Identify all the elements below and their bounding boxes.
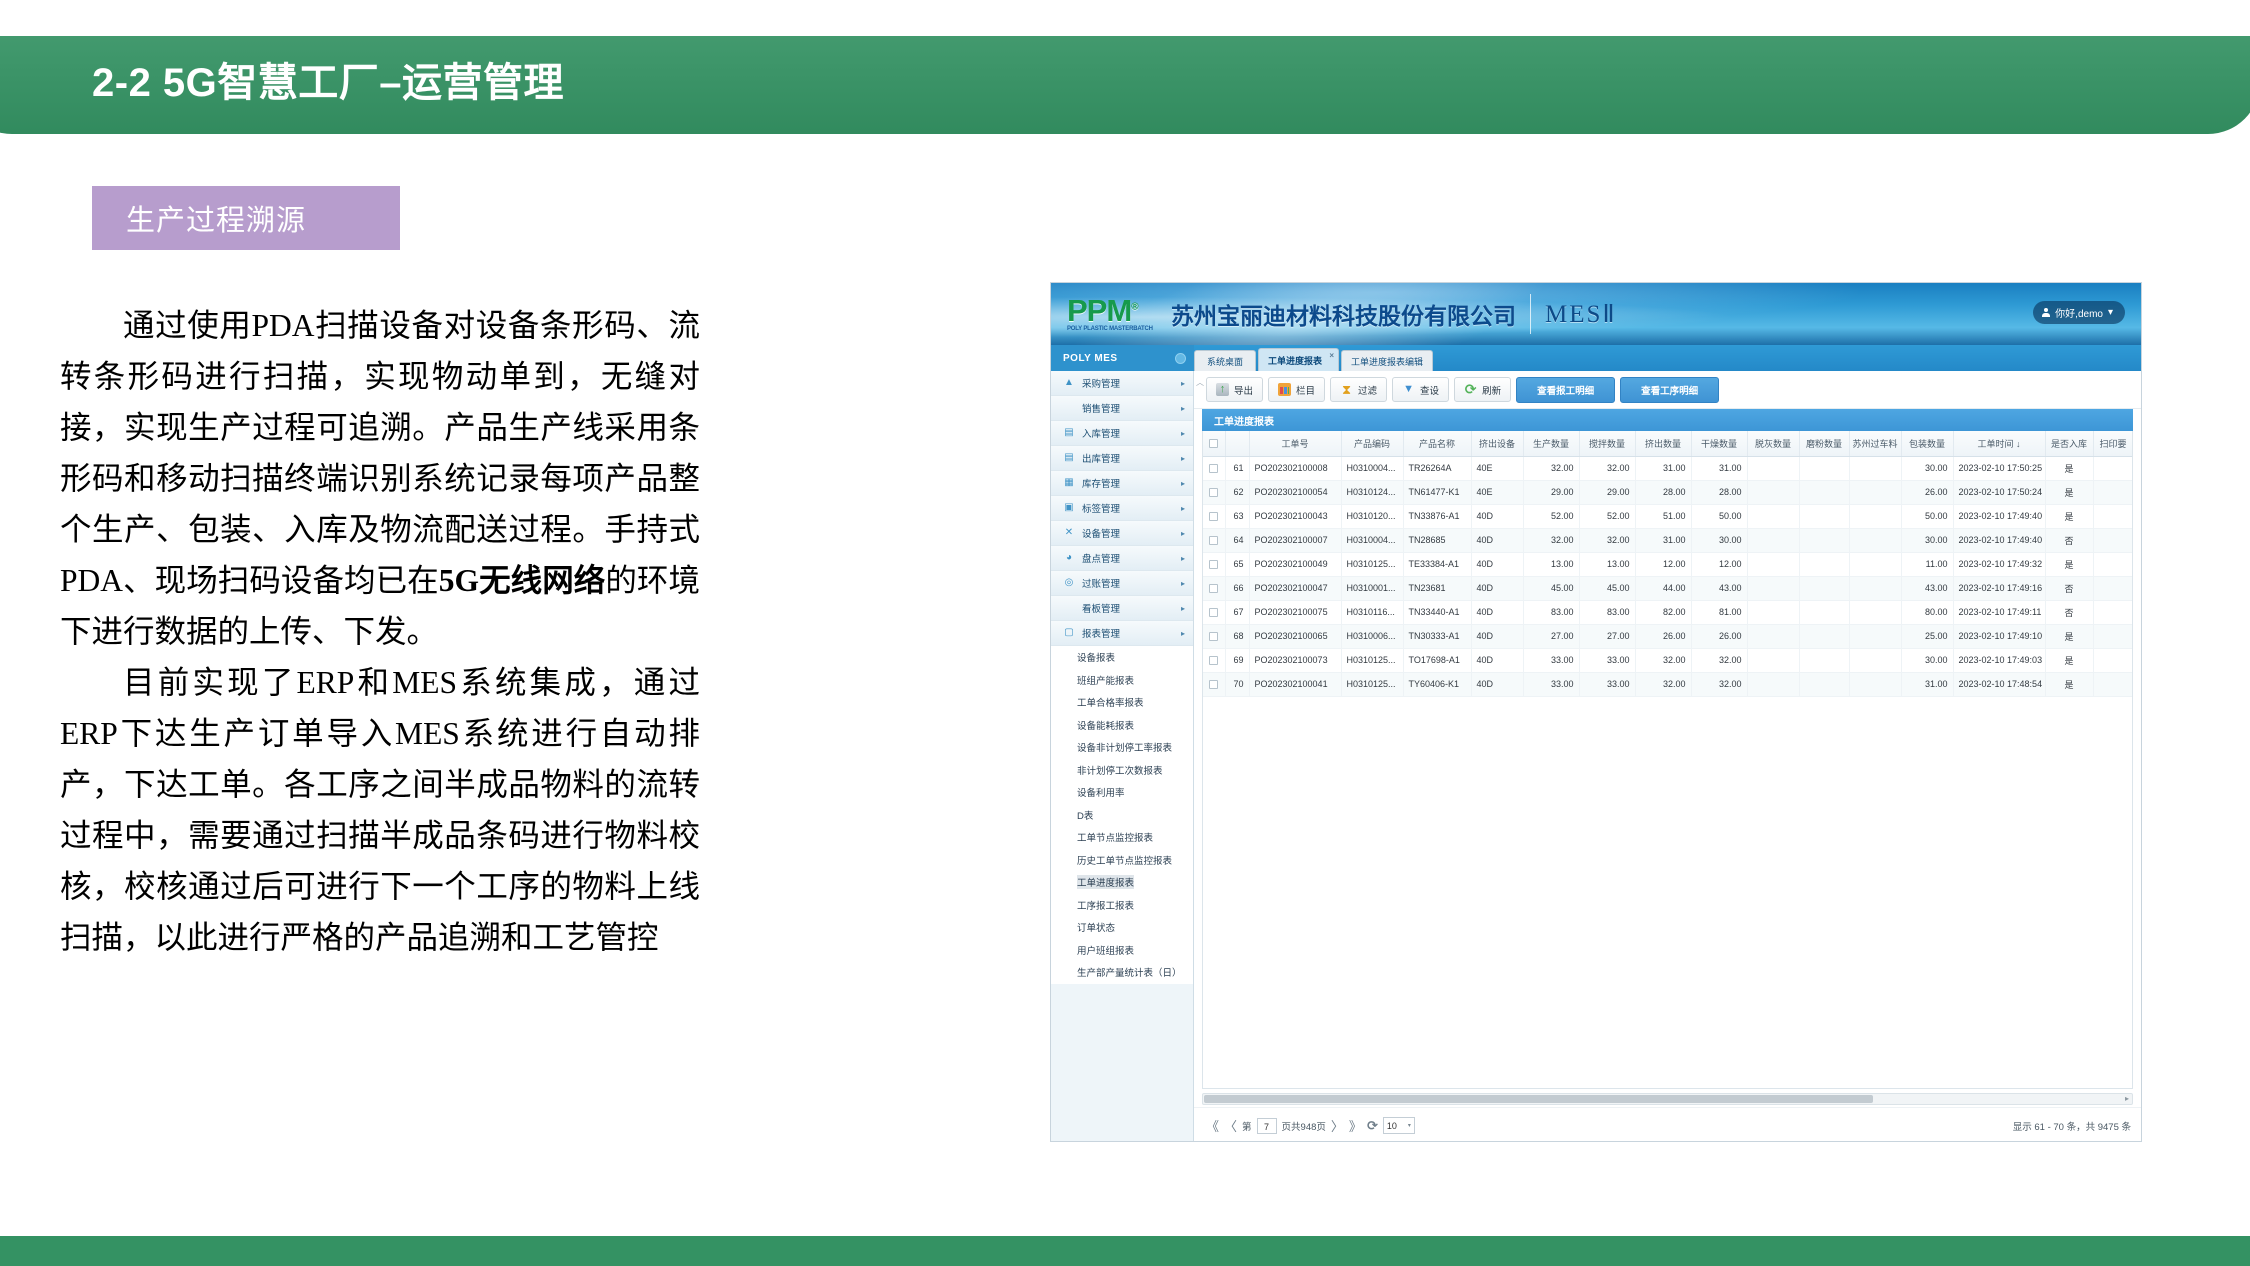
refresh-icon[interactable]: ⟳ bbox=[1367, 1118, 1378, 1134]
user-icon bbox=[2042, 308, 2050, 317]
cell-equipment: 40D bbox=[1471, 624, 1523, 648]
section-chip-label: 生产过程溯源 bbox=[92, 197, 306, 239]
cell-deashing-qty bbox=[1747, 528, 1799, 552]
checkbox-icon[interactable] bbox=[1209, 680, 1218, 689]
column-header-index[interactable] bbox=[1225, 431, 1249, 456]
cell-milling-qty bbox=[1799, 624, 1849, 648]
cell-product-name: TN61477-K1 bbox=[1403, 480, 1471, 504]
cell-drying-qty: 28.00 bbox=[1691, 480, 1747, 504]
submenu-item-unplanned-downtime-count-report[interactable]: 非计划停工次数报表 bbox=[1051, 759, 1193, 782]
submenu-item-equipment-energy-report[interactable]: 设备能耗报表 bbox=[1051, 714, 1193, 737]
table-row[interactable]: 70 PO202302100041 H0310125... TY60406-K1… bbox=[1203, 672, 2133, 696]
submenu-item-team-capacity-report[interactable]: 班组产能报表 bbox=[1051, 669, 1193, 692]
cell-packing-qty: 11.00 bbox=[1901, 552, 1953, 576]
table-row[interactable]: 61 PO202302100008 H0310004... TR26264A 4… bbox=[1203, 456, 2133, 480]
cell-product-name: TY60406-K1 bbox=[1403, 672, 1471, 696]
horizontal-scrollbar[interactable]: ◂ ▸ bbox=[1202, 1093, 2133, 1105]
table-header-row: 工单号 产品编码 产品名称 挤出设备 生产数量 搅拌数量 挤出数量 干燥数量 脱… bbox=[1203, 431, 2133, 456]
first-page-icon[interactable]: 《 bbox=[1206, 1116, 1219, 1135]
user-menu-label: 你好,demo bbox=[2055, 305, 2103, 320]
column-header-extrusion-equipment[interactable]: 挤出设备 bbox=[1471, 431, 1523, 456]
sidebar-item-outbound[interactable]: ▤ 出库管理 ▸ bbox=[1051, 446, 1193, 471]
refresh-button-label: 刷新 bbox=[1482, 383, 1501, 397]
cell-packing-qty: 30.00 bbox=[1901, 528, 1953, 552]
cell-in-stock: 否 bbox=[2045, 576, 2093, 600]
cell-milling-qty bbox=[1799, 504, 1849, 528]
app-body: ▲ 采购管理 ▸ • 销售管理 ▸ ▤ 入库管理 ▸ ▤ 出库管理 ▸ ▦ 库存 bbox=[1051, 371, 2141, 1142]
filter-button[interactable]: 过滤 bbox=[1330, 377, 1387, 402]
export-button[interactable]: 导出 bbox=[1206, 377, 1263, 402]
page-label-prefix: 第 bbox=[1242, 1119, 1252, 1133]
cell-index: 62 bbox=[1225, 480, 1249, 504]
cell-product-name: TN28685 bbox=[1403, 528, 1471, 552]
cell-packing-qty: 31.00 bbox=[1901, 672, 1953, 696]
cell-print-scan bbox=[2093, 576, 2133, 600]
cell-product-code: H0310125... bbox=[1341, 672, 1403, 696]
cell-deashing-qty bbox=[1747, 624, 1799, 648]
cell-packing-qty: 26.00 bbox=[1901, 480, 1953, 504]
chevron-right-icon: ▸ bbox=[1181, 604, 1193, 613]
cell-packing-qty: 43.00 bbox=[1901, 576, 1953, 600]
app-header: PPM® POLY PLASTIC MASTERBATCH 苏州宝丽迪材料科技股… bbox=[1051, 283, 2141, 345]
view-reporting-detail-label: 查看报工明细 bbox=[1537, 383, 1594, 397]
submenu-item-label: 设备报表 bbox=[1077, 650, 1115, 664]
cell-drying-qty: 32.00 bbox=[1691, 648, 1747, 672]
cell-equipment: 40D bbox=[1471, 648, 1523, 672]
sidebar-item-label: 过账管理 bbox=[1082, 576, 1181, 590]
checkbox-icon[interactable] bbox=[1209, 608, 1218, 617]
chevron-right-icon: ▸ bbox=[1181, 554, 1193, 563]
table-row[interactable]: 66 PO202302100047 H0310001... TN23681 40… bbox=[1203, 576, 2133, 600]
cell-workorder-no: PO202302100073 bbox=[1249, 648, 1341, 672]
checkbox-icon[interactable] bbox=[1209, 512, 1218, 521]
submenu-item-unplanned-downtime-rate-report[interactable]: 设备非计划停工率报表 bbox=[1051, 736, 1193, 759]
cell-suzhou-transfer bbox=[1849, 456, 1901, 480]
refresh-icon bbox=[1464, 383, 1477, 396]
column-header-drying-qty[interactable]: 干燥数量 bbox=[1691, 431, 1747, 456]
cell-equipment: 40D bbox=[1471, 504, 1523, 528]
cell-in-stock: 是 bbox=[2045, 624, 2093, 648]
chevron-right-icon: ▸ bbox=[1181, 479, 1193, 488]
cell-production-qty: 52.00 bbox=[1523, 504, 1579, 528]
cell-index: 67 bbox=[1225, 600, 1249, 624]
cell-product-code: H0310006... bbox=[1341, 624, 1403, 648]
column-header-mixing-qty[interactable]: 搅拌数量 bbox=[1579, 431, 1635, 456]
filter-button-label: 过滤 bbox=[1358, 383, 1377, 397]
cell-production-qty: 32.00 bbox=[1523, 528, 1579, 552]
cell-in-stock: 是 bbox=[2045, 504, 2093, 528]
column-header-milling-qty[interactable]: 磨粉数量 bbox=[1799, 431, 1849, 456]
column-header-extrusion-qty[interactable]: 挤出数量 bbox=[1635, 431, 1691, 456]
export-button-label: 导出 bbox=[1234, 383, 1253, 397]
cell-production-qty: 32.00 bbox=[1523, 456, 1579, 480]
grid-icon: ▦ bbox=[1063, 477, 1075, 489]
cell-product-name: TN33876-A1 bbox=[1403, 504, 1471, 528]
submenu-item-history-workorder-node-monitor-report[interactable]: 历史工单节点监控报表 bbox=[1051, 849, 1193, 872]
table-body: 61 PO202302100008 H0310004... TR26264A 4… bbox=[1203, 456, 2133, 696]
cell-suzhou-transfer bbox=[1849, 480, 1901, 504]
prev-page-icon[interactable]: 〈 bbox=[1224, 1116, 1237, 1135]
pagination-summary: 显示 61 - 70 条，共 9475 条 bbox=[2013, 1119, 2131, 1133]
column-header-product-code[interactable]: 产品编码 bbox=[1341, 431, 1403, 456]
view-reporting-detail-button[interactable]: 查看报工明细 bbox=[1516, 377, 1615, 403]
cell-product-code: H0310124... bbox=[1341, 480, 1403, 504]
sidebar-item-inbound[interactable]: ▤ 入库管理 ▸ bbox=[1051, 421, 1193, 446]
tab-workorder-progress-report-edit[interactable]: 工单进度报表编辑 bbox=[1341, 350, 1433, 371]
sidebar-item-label-mgmt[interactable]: ▣ 标签管理 ▸ bbox=[1051, 496, 1193, 521]
sidebar-item-sales[interactable]: • 销售管理 ▸ bbox=[1051, 396, 1193, 421]
cell-equipment: 40D bbox=[1471, 552, 1523, 576]
cell-product-code: H0310004... bbox=[1341, 528, 1403, 552]
chevron-right-icon: ▸ bbox=[1181, 529, 1193, 538]
section-chip: 生产过程溯源 bbox=[92, 186, 400, 250]
submenu-item-equipment-report[interactable]: 设备报表 bbox=[1051, 646, 1193, 669]
sidebar-item-label: 看板管理 bbox=[1082, 601, 1181, 615]
company-logo: PPM® POLY PLASTIC MASTERBATCH bbox=[1051, 296, 1171, 332]
column-header-product-name[interactable]: 产品名称 bbox=[1403, 431, 1471, 456]
sidebar-item-posting[interactable]: ◎ 过账管理 ▸ bbox=[1051, 571, 1193, 596]
cell-extrusion-qty: 82.00 bbox=[1635, 600, 1691, 624]
cell-mixing-qty: 83.00 bbox=[1579, 600, 1635, 624]
cell-index: 63 bbox=[1225, 504, 1249, 528]
chevron-right-icon: ▸ bbox=[1181, 579, 1193, 588]
query-settings-button-label: 查设 bbox=[1420, 383, 1439, 397]
last-page-icon[interactable]: 》 bbox=[1349, 1116, 1362, 1135]
cell-index: 66 bbox=[1225, 576, 1249, 600]
submenu-item-label: 用户班组报表 bbox=[1077, 943, 1134, 957]
cell-mixing-qty: 33.00 bbox=[1579, 648, 1635, 672]
cell-suzhou-transfer bbox=[1849, 576, 1901, 600]
submenu-item-workorder-passrate-report[interactable]: 工单合格率报表 bbox=[1051, 691, 1193, 714]
page-number-input[interactable]: 7 bbox=[1257, 1118, 1277, 1134]
cell-in-stock: 是 bbox=[2045, 480, 2093, 504]
checkbox-icon[interactable] bbox=[1209, 560, 1218, 569]
submenu-item-process-reporting-report[interactable]: 工序报工报表 bbox=[1051, 894, 1193, 917]
sidebar-item-label: 标签管理 bbox=[1082, 501, 1181, 515]
sidebar-brand: POLY MES bbox=[1051, 345, 1194, 371]
cell-product-name: TN30333-A1 bbox=[1403, 624, 1471, 648]
cell-in-stock: 是 bbox=[2045, 552, 2093, 576]
refresh-button[interactable]: 刷新 bbox=[1454, 377, 1511, 402]
cell-mixing-qty: 45.00 bbox=[1579, 576, 1635, 600]
cell-product-name: TO17698-A1 bbox=[1403, 648, 1471, 672]
cell-milling-qty bbox=[1799, 672, 1849, 696]
submenu-item-label: 班组产能报表 bbox=[1077, 673, 1134, 687]
cell-packing-qty: 25.00 bbox=[1901, 624, 1953, 648]
cell-extrusion-qty: 44.00 bbox=[1635, 576, 1691, 600]
paragraph-1: 通过使用PDA扫描设备对设备条形码、流转条形码进行扫描，实现物动单到，无缝对接，… bbox=[60, 300, 700, 657]
cell-product-code: H0310125... bbox=[1341, 552, 1403, 576]
paragraph-2: 目前实现了ERP和MES系统集成，通过ERP下达生产订单导入MES系统进行自动排… bbox=[60, 657, 700, 963]
scrollbar-thumb[interactable] bbox=[1204, 1095, 1873, 1103]
submenu-item-label: 工单节点监控报表 bbox=[1077, 830, 1153, 844]
cell-drying-qty: 43.00 bbox=[1691, 576, 1747, 600]
chevron-right-icon: ▸ bbox=[1181, 429, 1193, 438]
checkbox-icon[interactable] bbox=[1209, 439, 1218, 448]
row-checkbox-cell[interactable] bbox=[1203, 648, 1225, 672]
cell-workorder-time: 2023-02-10 17:50:25 bbox=[1953, 456, 2045, 480]
chevron-right-icon: ▸ bbox=[1181, 454, 1193, 463]
submenu-item-label: D表 bbox=[1077, 808, 1093, 822]
column-header-workorder-no[interactable]: 工单号 bbox=[1249, 431, 1341, 456]
submenu-item-label: 工单进度报表 bbox=[1077, 875, 1134, 889]
monitor-icon: ▢ bbox=[1063, 627, 1075, 639]
cell-drying-qty: 31.00 bbox=[1691, 456, 1747, 480]
cell-workorder-time: 2023-02-10 17:49:40 bbox=[1953, 528, 2045, 552]
cell-print-scan bbox=[2093, 648, 2133, 672]
cell-production-qty: 29.00 bbox=[1523, 480, 1579, 504]
cell-workorder-time: 2023-02-10 17:49:32 bbox=[1953, 552, 2045, 576]
cell-extrusion-qty: 32.00 bbox=[1635, 672, 1691, 696]
circle-icon: ◎ bbox=[1063, 577, 1075, 589]
cell-in-stock: 是 bbox=[2045, 648, 2093, 672]
sidebar-item-inventory[interactable]: ▦ 库存管理 ▸ bbox=[1051, 471, 1193, 496]
cell-deashing-qty bbox=[1747, 456, 1799, 480]
column-header-print-scan[interactable]: 扫印要 bbox=[2093, 431, 2133, 456]
cell-in-stock: 否 bbox=[2045, 528, 2093, 552]
cell-print-scan bbox=[2093, 600, 2133, 624]
column-header-in-stock[interactable]: 是否入库 bbox=[2045, 431, 2093, 456]
cell-suzhou-transfer bbox=[1849, 648, 1901, 672]
cell-production-qty: 83.00 bbox=[1523, 600, 1579, 624]
submenu-item-d-report[interactable]: D表 bbox=[1051, 804, 1193, 827]
grid-wrapper: 工单号 产品编码 产品名称 挤出设备 生产数量 搅拌数量 挤出数量 干燥数量 脱… bbox=[1202, 431, 2133, 1089]
cell-packing-qty: 30.00 bbox=[1901, 648, 1953, 672]
cell-extrusion-qty: 31.00 bbox=[1635, 456, 1691, 480]
grid-title: 工单进度报表 bbox=[1202, 409, 2133, 431]
tools-icon: ✕ bbox=[1063, 527, 1075, 539]
submenu-item-label: 设备能耗报表 bbox=[1077, 718, 1134, 732]
sidebar-item-label: 设备管理 bbox=[1082, 526, 1181, 540]
tab-label: 工单进度报表 bbox=[1268, 354, 1322, 367]
chevron-right-icon: ▸ bbox=[1181, 404, 1193, 413]
cell-equipment: 40D bbox=[1471, 528, 1523, 552]
chevron-down-icon: ▾ bbox=[2108, 307, 2113, 318]
cell-suzhou-transfer bbox=[1849, 600, 1901, 624]
cell-milling-qty bbox=[1799, 648, 1849, 672]
sidebar-item-stocktake[interactable]: ◕ 盘点管理 ▸ bbox=[1051, 546, 1193, 571]
column-header-suzhou-transfer[interactable]: 苏州过车料 bbox=[1849, 431, 1901, 456]
chevron-right-icon: ▸ bbox=[1181, 504, 1193, 513]
mes-application-screenshot: PPM® POLY PLASTIC MASTERBATCH 苏州宝丽迪材料科技股… bbox=[1050, 282, 2142, 1142]
cell-equipment: 40E bbox=[1471, 480, 1523, 504]
cell-index: 70 bbox=[1225, 672, 1249, 696]
submenu-item-workorder-progress-report[interactable]: 工单进度报表 bbox=[1051, 871, 1193, 894]
cell-product-name: TE33384-A1 bbox=[1403, 552, 1471, 576]
cell-product-name: TN23681 bbox=[1403, 576, 1471, 600]
sidebar-item-label: 库存管理 bbox=[1082, 476, 1181, 490]
checkbox-icon[interactable] bbox=[1209, 584, 1218, 593]
cell-in-stock: 否 bbox=[2045, 600, 2093, 624]
cell-suzhou-transfer bbox=[1849, 528, 1901, 552]
row-checkbox-cell[interactable] bbox=[1203, 528, 1225, 552]
cell-print-scan bbox=[2093, 528, 2133, 552]
query-settings-button[interactable]: 查设 bbox=[1392, 377, 1449, 402]
header-divider bbox=[1530, 294, 1531, 334]
cell-packing-qty: 50.00 bbox=[1901, 504, 1953, 528]
cell-equipment: 40D bbox=[1471, 600, 1523, 624]
row-checkbox-cell[interactable] bbox=[1203, 672, 1225, 696]
submenu-item-order-status[interactable]: 订单状态 bbox=[1051, 916, 1193, 939]
table-row[interactable]: 62 PO202302100054 H0310124... TN61477-K1… bbox=[1203, 480, 2133, 504]
toolbar: 导出 栏目 过滤 查设 刷新 查 bbox=[1194, 371, 2141, 409]
row-checkbox-cell[interactable] bbox=[1203, 480, 1225, 504]
cell-workorder-time: 2023-02-10 17:49:03 bbox=[1953, 648, 2045, 672]
cell-drying-qty: 50.00 bbox=[1691, 504, 1747, 528]
table-row[interactable]: 63 PO202302100043 H0310120... TN33876-A1… bbox=[1203, 504, 2133, 528]
cell-print-scan bbox=[2093, 552, 2133, 576]
table-row[interactable]: 69 PO202302100073 H0310125... TO17698-A1… bbox=[1203, 648, 2133, 672]
chevron-down-icon: ▾ bbox=[1408, 1122, 1411, 1129]
sidebar-brand-label: POLY MES bbox=[1063, 353, 1118, 364]
cell-production-qty: 13.00 bbox=[1523, 552, 1579, 576]
submenu-item-label: 设备利用率 bbox=[1077, 785, 1125, 799]
cell-mixing-qty: 13.00 bbox=[1579, 552, 1635, 576]
table-row[interactable]: 65 PO202302100049 H0310125... TE33384-A1… bbox=[1203, 552, 2133, 576]
cell-mixing-qty: 32.00 bbox=[1579, 528, 1635, 552]
column-header-deashing-qty[interactable]: 脱灰数量 bbox=[1747, 431, 1799, 456]
submenu-item-production-daily-output-report[interactable]: 生产部产量统计表（日） bbox=[1051, 961, 1193, 984]
checkbox-icon[interactable] bbox=[1209, 536, 1218, 545]
cell-milling-qty bbox=[1799, 600, 1849, 624]
cell-index: 68 bbox=[1225, 624, 1249, 648]
sidebar-item-equipment[interactable]: ✕ 设备管理 ▸ bbox=[1051, 521, 1193, 546]
cell-print-scan bbox=[2093, 504, 2133, 528]
columns-button-label: 栏目 bbox=[1296, 383, 1315, 397]
cell-workorder-no: PO202302100049 bbox=[1249, 552, 1341, 576]
checkbox-icon[interactable] bbox=[1209, 632, 1218, 641]
cell-mixing-qty: 33.00 bbox=[1579, 672, 1635, 696]
submenu-item-label: 工序报工报表 bbox=[1077, 898, 1134, 912]
table-row[interactable]: 68 PO202302100065 H0310006... TN30333-A1… bbox=[1203, 624, 2133, 648]
scroll-right-icon[interactable]: ▸ bbox=[2125, 1094, 2129, 1104]
table-row[interactable]: 64 PO202302100007 H0310004... TN28685 40… bbox=[1203, 528, 2133, 552]
row-checkbox-cell[interactable] bbox=[1203, 576, 1225, 600]
columns-button[interactable]: 栏目 bbox=[1268, 377, 1325, 402]
cell-product-code: H0310004... bbox=[1341, 456, 1403, 480]
cell-index: 64 bbox=[1225, 528, 1249, 552]
submenu-item-workorder-node-monitor-report[interactable]: 工单节点监控报表 bbox=[1051, 826, 1193, 849]
cell-product-code: H0310001... bbox=[1341, 576, 1403, 600]
checkbox-icon[interactable] bbox=[1209, 488, 1218, 497]
close-icon[interactable]: × bbox=[1329, 351, 1334, 360]
cell-product-code: H0310125... bbox=[1341, 648, 1403, 672]
cell-mixing-qty: 29.00 bbox=[1579, 480, 1635, 504]
cell-drying-qty: 12.00 bbox=[1691, 552, 1747, 576]
cell-workorder-no: PO202302100008 bbox=[1249, 456, 1341, 480]
cell-production-qty: 33.00 bbox=[1523, 672, 1579, 696]
cell-drying-qty: 81.00 bbox=[1691, 600, 1747, 624]
paragraph-1-part-a: 通过使用PDA扫描设备对设备条形码、流转条形码进行扫描，实现物动单到，无缝对接，… bbox=[60, 308, 700, 598]
logo-mark-text: PPM bbox=[1067, 293, 1131, 328]
tab-label: 工单进度报表编辑 bbox=[1351, 355, 1423, 368]
tab-workorder-progress-report[interactable]: 工单进度报表 × bbox=[1258, 348, 1339, 371]
filter-icon bbox=[1340, 383, 1353, 396]
columns-icon bbox=[1278, 383, 1291, 396]
cell-workorder-time: 2023-02-10 17:49:40 bbox=[1953, 504, 2045, 528]
tab-system-desktop[interactable]: 系统桌面 bbox=[1194, 350, 1256, 371]
registered-icon: ® bbox=[1131, 301, 1137, 312]
cell-print-scan bbox=[2093, 624, 2133, 648]
submenu-item-label: 设备非计划停工率报表 bbox=[1077, 740, 1172, 754]
cell-suzhou-transfer bbox=[1849, 552, 1901, 576]
cell-index: 65 bbox=[1225, 552, 1249, 576]
checkbox-icon[interactable] bbox=[1209, 656, 1218, 665]
row-checkbox-cell[interactable] bbox=[1203, 600, 1225, 624]
next-page-icon[interactable]: 〉 bbox=[1331, 1116, 1344, 1135]
workorder-progress-table: 工单号 产品编码 产品名称 挤出设备 生产数量 搅拌数量 挤出数量 干燥数量 脱… bbox=[1203, 431, 2133, 697]
cell-equipment: 40D bbox=[1471, 576, 1523, 600]
row-checkbox-cell[interactable] bbox=[1203, 456, 1225, 480]
column-header-production-qty[interactable]: 生产数量 bbox=[1523, 431, 1579, 456]
row-checkbox-cell[interactable] bbox=[1203, 552, 1225, 576]
cell-equipment: 40E bbox=[1471, 456, 1523, 480]
cell-workorder-no: PO202302100065 bbox=[1249, 624, 1341, 648]
submenu-item-equipment-utilization[interactable]: 设备利用率 bbox=[1051, 781, 1193, 804]
sidebar-item-reports[interactable]: ▢ 报表管理 ▸ bbox=[1051, 621, 1193, 646]
submenu-item-label: 工单合格率报表 bbox=[1077, 695, 1144, 709]
tag-icon: ▣ bbox=[1063, 502, 1075, 514]
sidebar[interactable]: ▲ 采购管理 ▸ • 销售管理 ▸ ▤ 入库管理 ▸ ▤ 出库管理 ▸ ▦ 库存 bbox=[1051, 371, 1194, 1142]
chevron-right-icon: ▸ bbox=[1181, 379, 1193, 388]
sidebar-item-kanban[interactable]: • 看板管理 ▸ bbox=[1051, 596, 1193, 621]
cell-mixing-qty: 27.00 bbox=[1579, 624, 1635, 648]
scroll-up-icon[interactable]: ︿ bbox=[1196, 377, 1204, 388]
column-header-workorder-time[interactable]: 工单时间 ↓ bbox=[1953, 431, 2045, 456]
page-size-select[interactable]: 10 ▾ bbox=[1383, 1117, 1415, 1134]
cell-product-code: H0310116... bbox=[1341, 600, 1403, 624]
cell-suzhou-transfer bbox=[1849, 672, 1901, 696]
cell-milling-qty bbox=[1799, 576, 1849, 600]
cell-deashing-qty bbox=[1747, 672, 1799, 696]
content-pane: ︿ 导出 栏目 过滤 查设 bbox=[1194, 371, 2141, 1142]
pagination-bar: 《 〈 第 7 页共948页 〉 》 ⟳ 10 ▾ 显示 61 - 70 条，共… bbox=[1194, 1107, 2141, 1142]
view-process-detail-button[interactable]: 查看工序明细 bbox=[1620, 377, 1719, 403]
paragraph-1-emphasis: 5G无线网络 bbox=[439, 563, 606, 598]
cell-milling-qty bbox=[1799, 552, 1849, 576]
cell-workorder-no: PO202302100041 bbox=[1249, 672, 1341, 696]
checkbox-icon[interactable] bbox=[1209, 464, 1218, 473]
cell-index: 69 bbox=[1225, 648, 1249, 672]
cell-print-scan bbox=[2093, 456, 2133, 480]
cell-deashing-qty bbox=[1747, 648, 1799, 672]
cell-mixing-qty: 32.00 bbox=[1579, 456, 1635, 480]
cell-extrusion-qty: 12.00 bbox=[1635, 552, 1691, 576]
select-all-header[interactable] bbox=[1203, 431, 1225, 456]
row-checkbox-cell[interactable] bbox=[1203, 504, 1225, 528]
horizontal-scrollbar-row: ◂ ▸ bbox=[1194, 1089, 2141, 1107]
cell-workorder-no: PO202302100007 bbox=[1249, 528, 1341, 552]
user-menu[interactable]: 你好,demo ▾ bbox=[2033, 301, 2125, 324]
cell-deashing-qty bbox=[1747, 600, 1799, 624]
inbox-icon: ▤ bbox=[1063, 427, 1075, 439]
cell-equipment: 40D bbox=[1471, 672, 1523, 696]
cell-extrusion-qty: 28.00 bbox=[1635, 480, 1691, 504]
cell-mixing-qty: 52.00 bbox=[1579, 504, 1635, 528]
tab-label: 系统桌面 bbox=[1207, 355, 1243, 368]
table-row[interactable]: 67 PO202302100075 H0310116... TN33440-A1… bbox=[1203, 600, 2133, 624]
cell-index: 61 bbox=[1225, 456, 1249, 480]
sidebar-item-label: 报表管理 bbox=[1082, 626, 1181, 640]
row-checkbox-cell[interactable] bbox=[1203, 624, 1225, 648]
submenu-item-user-team-report[interactable]: 用户班组报表 bbox=[1051, 939, 1193, 962]
export-icon bbox=[1216, 383, 1229, 396]
column-header-packing-qty[interactable]: 包装数量 bbox=[1901, 431, 1953, 456]
submenu-item-label: 订单状态 bbox=[1077, 920, 1115, 934]
cell-deashing-qty bbox=[1747, 552, 1799, 576]
sidebar-item-purchase[interactable]: ▲ 采购管理 ▸ bbox=[1051, 371, 1193, 396]
sidebar-collapse-icon[interactable] bbox=[1175, 353, 1186, 364]
